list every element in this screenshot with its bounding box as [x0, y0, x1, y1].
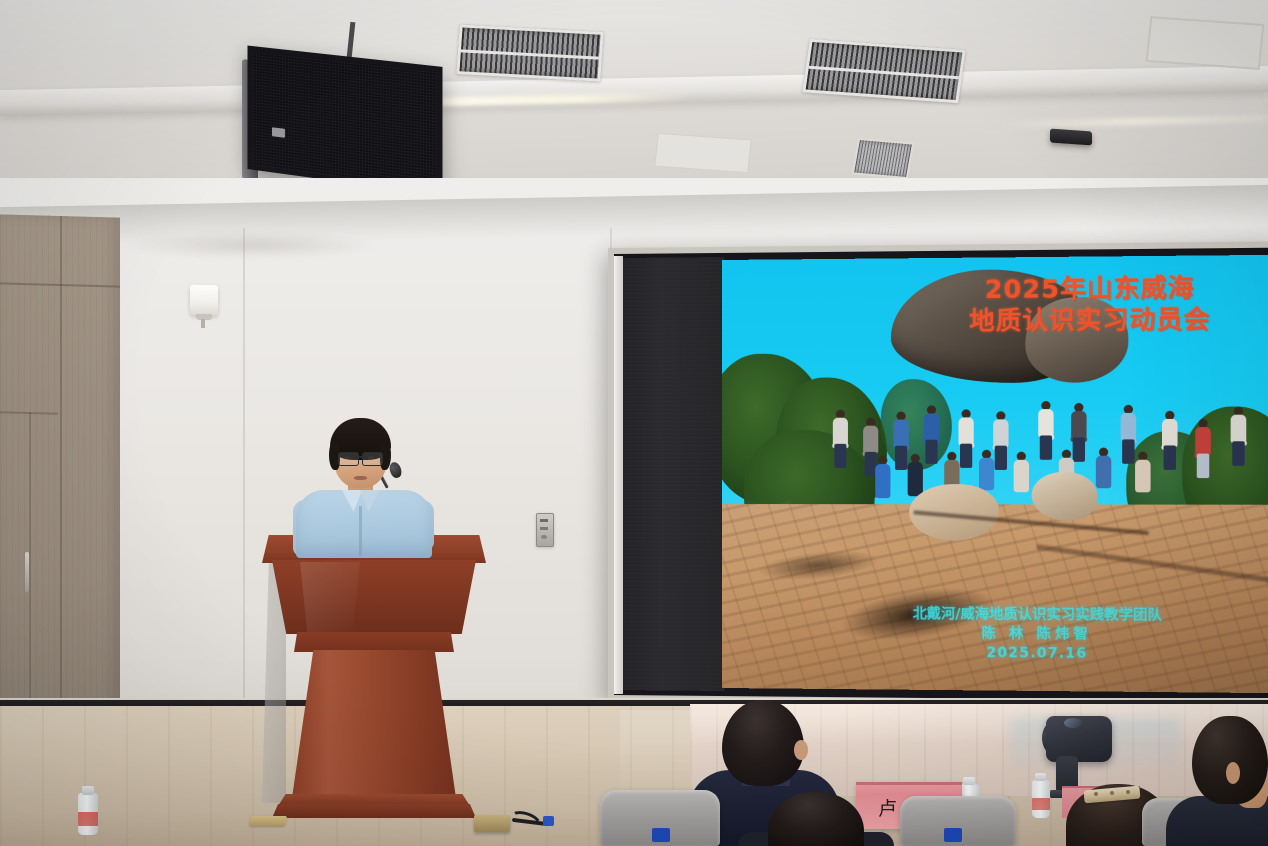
wall-access-point-stem	[201, 319, 205, 328]
slide-person-body	[958, 417, 973, 445]
slide-person-legs	[895, 446, 907, 470]
ceiling-access-panel	[654, 133, 752, 173]
door-handle[interactable]	[25, 552, 29, 592]
outlet-slot-icon	[541, 535, 547, 539]
ceiling-fixture-icon	[1050, 129, 1092, 146]
slide-person-body	[1162, 419, 1178, 448]
outlet-slot-icon	[540, 519, 548, 522]
slide-person-body	[1231, 415, 1247, 444]
slide-person-body	[1014, 460, 1029, 492]
floor-cable-box	[474, 815, 510, 832]
podium-column	[292, 650, 456, 798]
slide-person-body	[833, 418, 848, 446]
speaker-badge-icon	[272, 127, 285, 138]
cable-connector-icon	[543, 816, 554, 826]
slide-person-body	[1096, 456, 1111, 489]
presenter-mouth	[354, 476, 367, 480]
wall-seam	[243, 228, 245, 708]
led-screen-left-edge	[614, 256, 623, 694]
slide-person-legs	[834, 444, 846, 468]
slide-title-line-2: 地质认识实习动员会	[909, 303, 1268, 337]
glasses-icon	[338, 452, 359, 466]
attendee-ear	[794, 740, 808, 760]
slide-person-legs	[1073, 437, 1085, 461]
slide-person-body	[979, 458, 994, 490]
slide-rock-block	[1032, 472, 1098, 521]
slide-person-legs	[960, 444, 972, 468]
slide-person-body	[908, 462, 923, 496]
floor-brass-plate	[249, 816, 287, 826]
ceiling-access-panel	[1146, 16, 1265, 70]
wall-smudge	[120, 232, 380, 258]
slide-person-legs	[1164, 445, 1176, 469]
presenter-shirt-placket	[359, 506, 362, 556]
podium-neck	[294, 632, 454, 652]
slide-person-body	[1135, 460, 1151, 493]
wood-panel-seam	[60, 216, 62, 732]
glasses-bridge	[356, 456, 363, 458]
attendee-ear	[1226, 762, 1240, 784]
hvac-vent-icon	[802, 39, 966, 103]
presentation-slide[interactable]: 2025年山东威海 地质认识实习动员会 北戴河/威海地质认识实习实践教学团队 陈…	[722, 255, 1268, 693]
led-screen-dark-area	[620, 257, 724, 691]
slide-person-body	[875, 464, 890, 498]
camera-highlight	[1064, 718, 1082, 728]
hvac-vent-icon	[456, 24, 603, 81]
glasses-icon	[362, 452, 383, 466]
slide-footer: 北戴河/威海地质认识实习实践教学团队 陈 林 陈炜智 2025.07.16	[808, 604, 1268, 665]
bottle-label	[78, 812, 98, 826]
slide-person-legs	[925, 440, 937, 464]
attendee-head	[722, 700, 804, 786]
slide-person-body	[1195, 427, 1211, 456]
slide-person-legs	[1232, 441, 1245, 466]
slide-person-body	[893, 420, 908, 448]
chair-tag	[652, 828, 670, 842]
slide-rock-outcrop	[722, 504, 1268, 693]
outlet-slot-icon	[540, 527, 548, 530]
slide-person-legs	[1040, 435, 1052, 459]
bottle-cap-icon	[963, 777, 975, 785]
slide-person-body	[993, 419, 1008, 447]
slide-person-body	[1071, 411, 1086, 439]
slide-person-legs	[1122, 439, 1134, 463]
slide-person-body	[863, 426, 878, 454]
ceiling-speaker	[247, 46, 442, 196]
bottle-cap-icon	[82, 786, 94, 795]
slide-person-body	[1121, 413, 1137, 442]
attendee-head	[1192, 716, 1268, 804]
bottle-label	[1032, 798, 1050, 810]
slide-title: 2025年山东威海 地质认识实习动员会	[909, 271, 1268, 337]
bottle-cap-icon	[1035, 773, 1046, 781]
wall-access-point	[190, 285, 218, 316]
speaker-grille	[253, 51, 436, 190]
chair-tag	[944, 828, 962, 842]
podium-highlight	[300, 562, 360, 632]
screenshot-root: 2025年山东威海 地质认识实习动员会 北戴河/威海地质认识实习实践教学团队 陈…	[0, 0, 1268, 846]
wood-door-edge	[29, 412, 31, 732]
podium-base	[272, 804, 476, 818]
slide-title-line-1: 2025年山东威海	[909, 271, 1268, 305]
slide-footer-date: 2025.07.16	[808, 643, 1268, 666]
slide-person-body	[1038, 409, 1053, 437]
slide-person-body	[924, 413, 939, 441]
slide-person-legs	[1197, 454, 1209, 479]
slide-person-legs	[995, 446, 1007, 470]
hvac-vent-icon	[852, 138, 915, 179]
